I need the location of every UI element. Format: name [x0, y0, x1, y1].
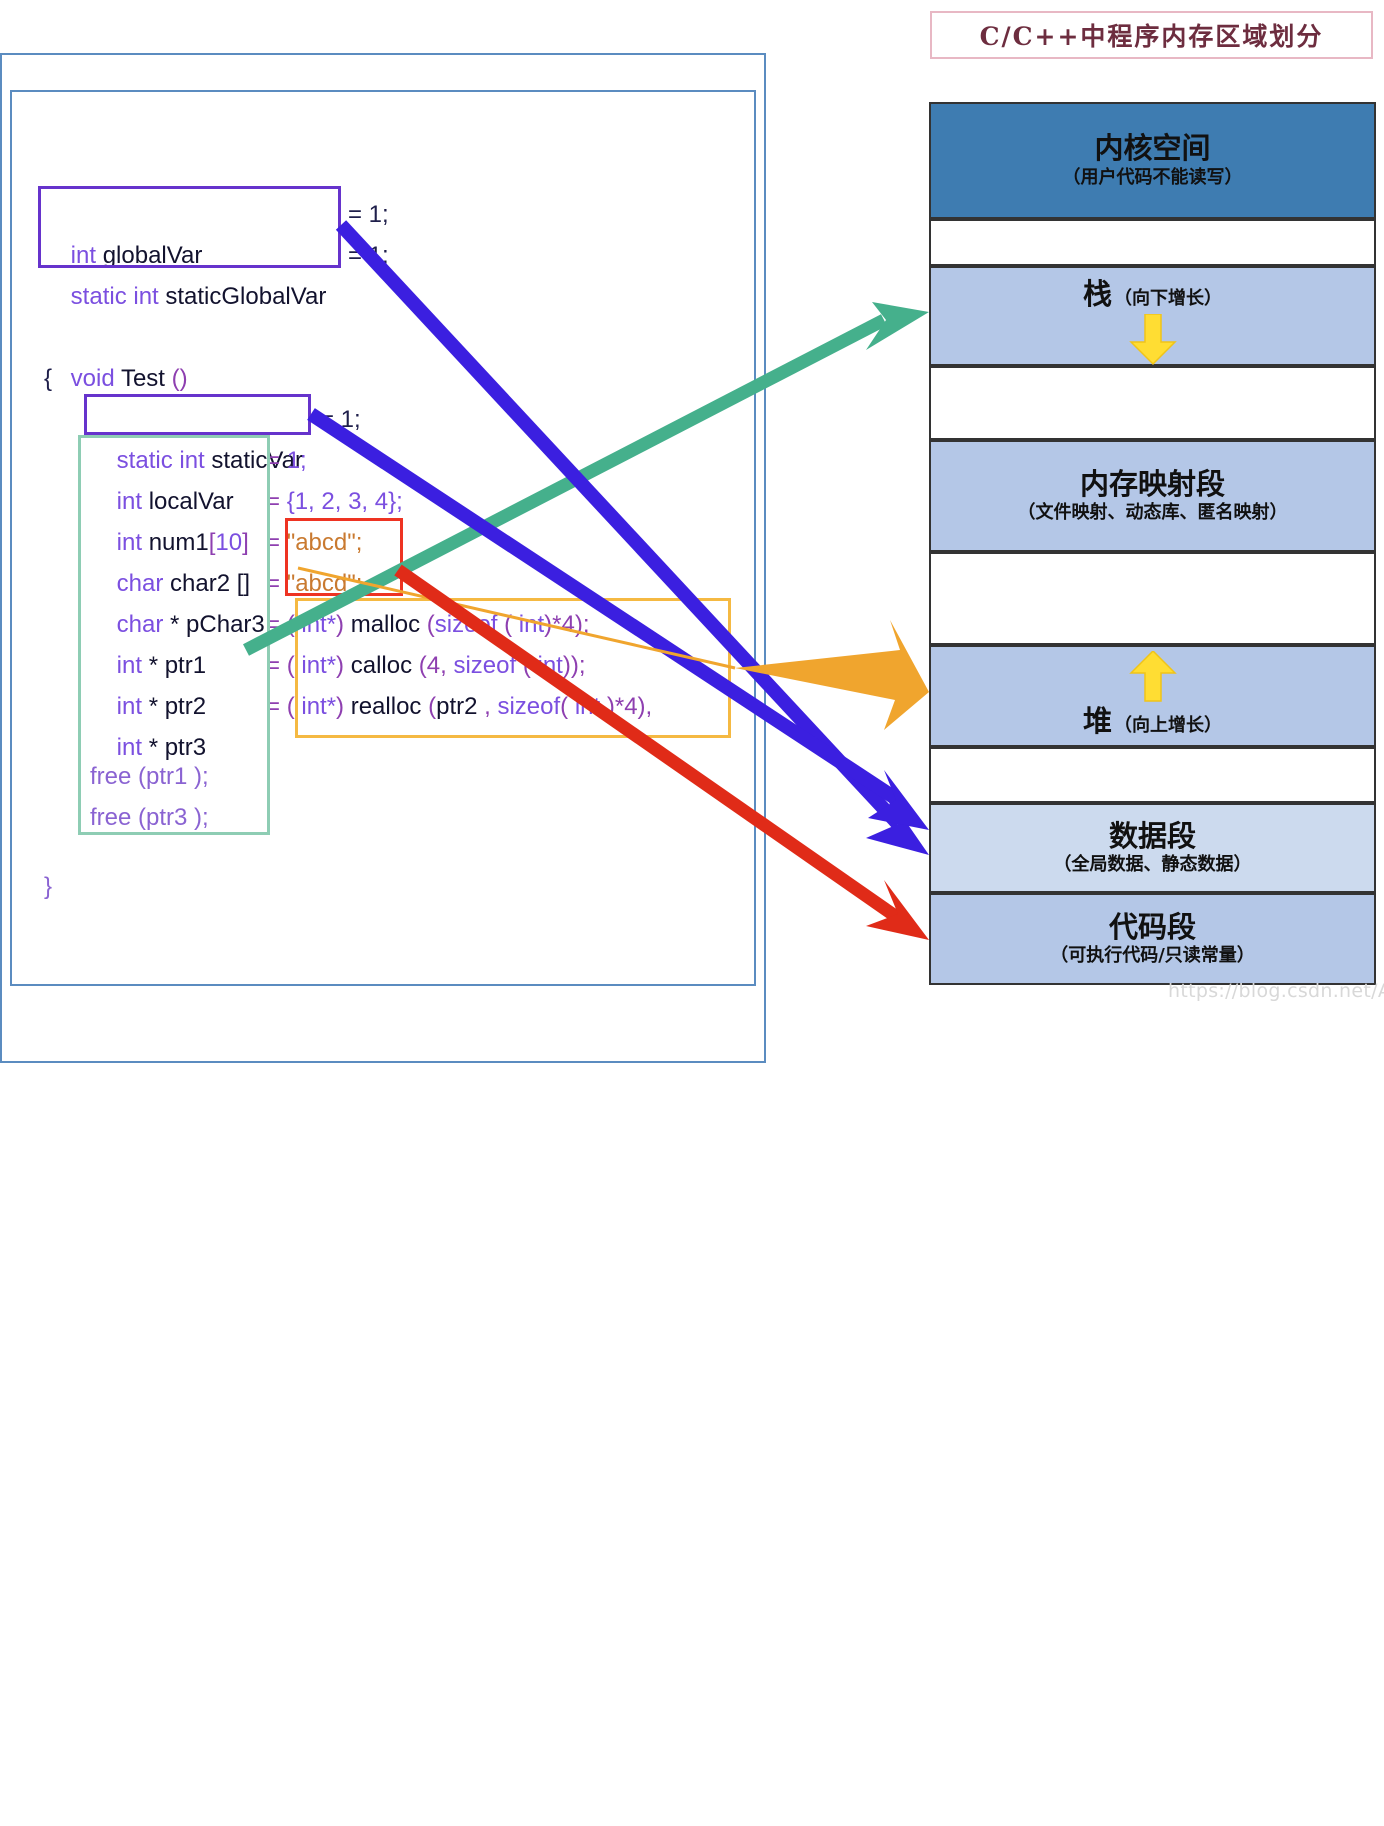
- code-value-num1: = {1, 2, 3, 4};: [266, 481, 403, 522]
- code-value-local-var: = 1;: [266, 440, 307, 481]
- memory-block-gap-2: [929, 366, 1376, 440]
- memory-block-mmap-subtitle: （文件映射、动态库、匿名映射）: [1018, 502, 1288, 524]
- memory-block-text: 代码段 （可执行代码/只读常量）: [929, 893, 1376, 985]
- memory-block-stack-label: 栈 （向下增长）: [1083, 278, 1222, 310]
- memory-layout-title: C/C++中程序内存区域划分: [930, 11, 1373, 59]
- memory-block-heap-label: 堆 （向上增长）: [1083, 705, 1222, 737]
- watermark: https://blog.csdn.net/AngelDg: [1168, 980, 1384, 1002]
- memory-block-text-title: 代码段: [1109, 911, 1196, 943]
- memory-block-gap-1: [929, 219, 1376, 266]
- memory-block-mmap-title: 内存映射段: [1080, 468, 1225, 500]
- memory-block-stack: 栈 （向下增长）: [929, 266, 1376, 366]
- annotation-box-string-literals: [285, 518, 403, 596]
- memory-block-gap-4: [929, 747, 1376, 803]
- memory-block-data: 数据段 （全局数据、静态数据）: [929, 803, 1376, 893]
- code-value-static-var: = 1;: [320, 399, 361, 440]
- memory-block-kernel-subtitle: （用户代码不能读写）: [1063, 167, 1243, 189]
- code-brace-open: {: [44, 358, 52, 399]
- code-value-global-var: = 1;: [348, 194, 389, 235]
- code-value-static-global-var: = 1;: [348, 235, 389, 276]
- memory-block-stack-title: 栈: [1083, 278, 1112, 310]
- memory-block-text-subtitle: （可执行代码/只读常量）: [1050, 945, 1255, 967]
- memory-block-mmap: 内存映射段 （文件映射、动态库、匿名映射）: [929, 440, 1376, 552]
- memory-block-data-subtitle: （全局数据、静态数据）: [1054, 854, 1252, 876]
- memory-block-heap-subtitle: （向上增长）: [1114, 715, 1222, 737]
- memory-block-stack-subtitle: （向下增长）: [1114, 288, 1222, 310]
- memory-block-kernel-title: 内核空间: [1094, 132, 1210, 164]
- memory-block-data-title: 数据段: [1109, 820, 1196, 852]
- annotation-box-static-var: [84, 394, 311, 435]
- annotation-box-locals: [78, 435, 270, 835]
- memory-block-kernel: 内核空间 （用户代码不能读写）: [929, 102, 1376, 219]
- annotation-box-globals: [38, 186, 341, 268]
- memory-block-heap-title: 堆: [1083, 705, 1112, 737]
- memory-block-heap: 堆 （向上增长）: [929, 645, 1376, 747]
- memory-layout-diagram: 内核空间 （用户代码不能读写） 栈 （向下增长） 内存映射段 （文件映射、动态库…: [929, 102, 1376, 986]
- code-brace-close: }: [44, 866, 52, 907]
- stack-growth-down-arrow: [1125, 314, 1181, 366]
- heap-growth-up-arrow: [1125, 651, 1181, 703]
- memory-block-gap-3: [929, 552, 1376, 645]
- annotation-box-heap-allocations: [295, 598, 731, 738]
